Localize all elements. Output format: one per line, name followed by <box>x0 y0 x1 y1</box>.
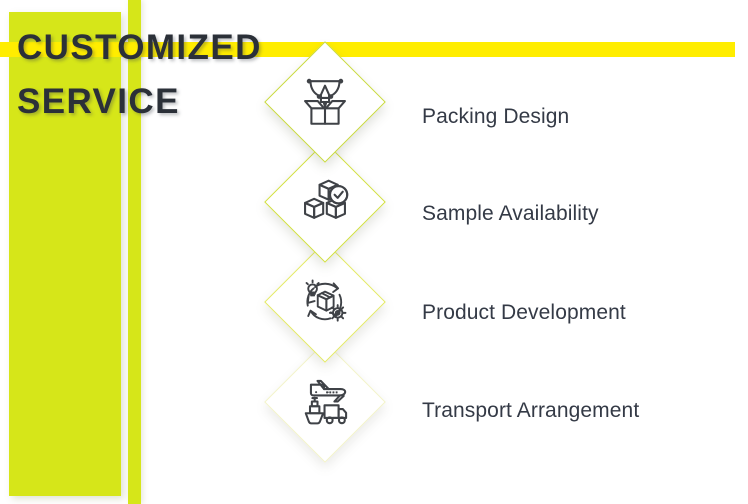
item-label-transport-arrangement: Transport Arrangement <box>422 399 639 423</box>
item-label-packing-design: Packing Design <box>422 105 569 129</box>
slide-canvas: CUSTOMIZED SERVICE <box>0 0 748 504</box>
box-cycle-bulb-gear-icon <box>289 266 361 338</box>
accent-stripe-horizontal <box>0 42 735 57</box>
item-label-product-development: Product Development <box>422 301 626 325</box>
item-label-sample-availability: Sample Availability <box>422 202 599 226</box>
accent-bar-wide <box>9 12 121 496</box>
airplane-ship-truck-icon <box>289 366 361 438</box>
boxes-checkmark-icon <box>289 166 361 238</box>
diamond-tile-packing-design[interactable] <box>264 41 386 163</box>
pen-tool-open-box-icon <box>289 66 361 138</box>
accent-bar-thin <box>128 0 141 504</box>
